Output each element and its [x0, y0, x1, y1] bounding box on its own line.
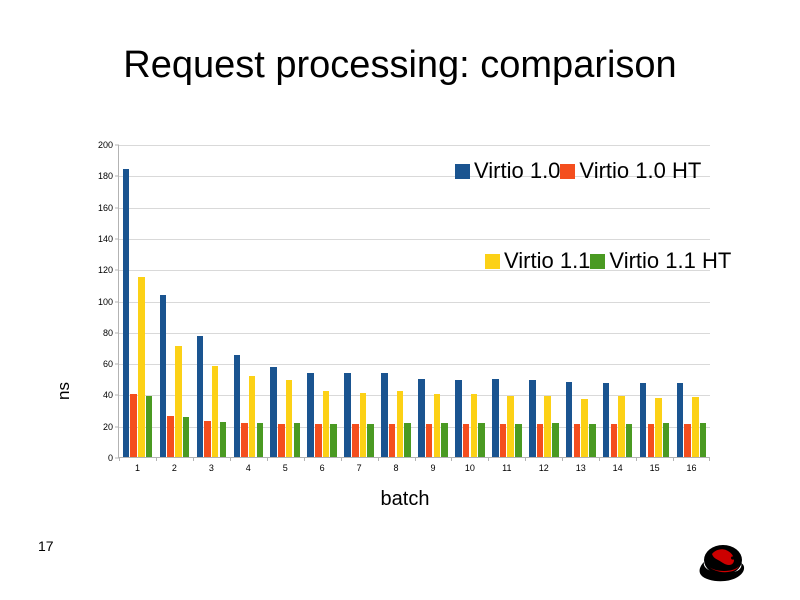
- bar-group: 11: [488, 145, 525, 457]
- slide-canvas: Request processing: comparison ns 020406…: [0, 0, 800, 600]
- legend-row-2: Virtio 1.1Virtio 1.1 HT: [485, 248, 731, 274]
- y-axis-tick-label: 120: [98, 265, 113, 275]
- bar: [257, 423, 264, 457]
- bar-group: 4: [230, 145, 267, 457]
- bar: [123, 169, 130, 457]
- bar: [581, 399, 588, 457]
- bar: [648, 424, 655, 457]
- bar: [471, 394, 478, 457]
- x-axis-tick-label: 4: [246, 463, 251, 473]
- bar-group: 8: [378, 145, 415, 457]
- bar: [241, 423, 248, 457]
- bar: [618, 396, 625, 457]
- x-axis-tick-label: 5: [283, 463, 288, 473]
- bar: [367, 424, 374, 457]
- bar-group: 9: [415, 145, 452, 457]
- y-axis-tick-label: 180: [98, 171, 113, 181]
- x-axis-tick-mark: [488, 457, 489, 461]
- bar: [692, 397, 699, 457]
- legend-item: Virtio 1.1 HT: [590, 248, 731, 274]
- bar: [278, 424, 285, 457]
- bar-group: 13: [562, 145, 599, 457]
- bar: [507, 396, 514, 457]
- bar: [478, 423, 485, 457]
- bar: [330, 424, 337, 457]
- y-axis-tick-label: 60: [103, 359, 113, 369]
- bar-group: 5: [267, 145, 304, 457]
- bar: [626, 424, 633, 457]
- bar: [515, 424, 522, 457]
- bar: [544, 396, 551, 457]
- legend-item: Virtio 1.1: [485, 248, 590, 274]
- x-axis-tick-label: 14: [613, 463, 623, 473]
- y-axis-tick-label: 80: [103, 328, 113, 338]
- x-axis-tick-mark: [156, 457, 157, 461]
- bar: [234, 355, 241, 457]
- bar-group: 1: [119, 145, 156, 457]
- x-axis-tick-mark: [193, 457, 194, 461]
- bar: [323, 391, 330, 458]
- bar-chart: ns 020406080100120140160180200 123456789…: [60, 130, 750, 520]
- bar-group: 15: [636, 145, 673, 457]
- bar: [426, 424, 433, 457]
- bar-group: 12: [525, 145, 562, 457]
- legend-color-swatch: [455, 164, 470, 179]
- y-axis-tick-label: 160: [98, 203, 113, 213]
- bar: [294, 423, 301, 457]
- bar: [307, 373, 314, 458]
- x-axis-tick-mark: [673, 457, 674, 461]
- bar: [529, 380, 536, 457]
- bar: [552, 423, 559, 457]
- bar: [389, 424, 396, 457]
- bar: [360, 393, 367, 457]
- legend-color-swatch: [560, 164, 575, 179]
- bar: [684, 424, 691, 457]
- bar: [404, 423, 411, 457]
- y-axis-tick-label: 0: [108, 453, 113, 463]
- y-axis-tick-label: 20: [103, 422, 113, 432]
- y-axis-tick-label: 100: [98, 297, 113, 307]
- bar: [352, 424, 359, 457]
- x-axis-tick-label: 15: [650, 463, 660, 473]
- x-axis-tick-mark: [230, 457, 231, 461]
- bar: [537, 424, 544, 457]
- y-axis-tick-label: 40: [103, 390, 113, 400]
- legend-item: Virtio 1.0: [455, 158, 560, 184]
- x-axis-tick-label: 3: [209, 463, 214, 473]
- plot-area: 020406080100120140160180200 123456789101…: [118, 145, 710, 458]
- bar: [574, 424, 581, 457]
- bar: [286, 380, 293, 457]
- x-axis-tick-mark: [599, 457, 600, 461]
- bar: [397, 391, 404, 457]
- bar: [611, 424, 618, 457]
- x-axis-tick-mark: [267, 457, 268, 461]
- bar: [249, 376, 256, 457]
- bar: [220, 422, 227, 457]
- red-hat-shadowman-logo: [694, 540, 748, 584]
- x-axis-label: batch: [60, 488, 750, 511]
- x-axis-tick-mark: [304, 457, 305, 461]
- bar: [130, 394, 137, 457]
- bar: [455, 380, 462, 457]
- bar: [589, 424, 596, 457]
- x-axis-tick-label: 10: [465, 463, 475, 473]
- bar-group: 10: [451, 145, 488, 457]
- bar-group: 3: [193, 145, 230, 457]
- bar-group: 7: [341, 145, 378, 457]
- bar-groups: 12345678910111213141516: [119, 145, 710, 457]
- x-axis-tick-mark: [341, 457, 342, 461]
- bar: [167, 416, 174, 457]
- legend-label: Virtio 1.0 HT: [579, 158, 701, 184]
- legend-row-1: Virtio 1.0Virtio 1.0 HT: [455, 158, 701, 184]
- x-axis-tick-label: 8: [394, 463, 399, 473]
- bar: [603, 383, 610, 457]
- x-axis-tick-label: 6: [320, 463, 325, 473]
- legend-color-swatch: [485, 254, 500, 269]
- legend-label: Virtio 1.0: [474, 158, 560, 184]
- x-axis-tick-mark: [119, 457, 120, 461]
- x-axis-tick-label: 16: [687, 463, 697, 473]
- legend-item: Virtio 1.0 HT: [560, 158, 701, 184]
- bar: [655, 398, 662, 457]
- x-axis-tick-mark: [451, 457, 452, 461]
- slide-page-number: 17: [38, 538, 54, 554]
- bar: [315, 424, 322, 457]
- bar: [500, 424, 507, 457]
- bar: [663, 423, 670, 457]
- page-title: Request processing: comparison: [0, 44, 800, 87]
- bar: [700, 423, 707, 457]
- x-axis-tick-mark: [562, 457, 563, 461]
- x-axis-tick-label: 2: [172, 463, 177, 473]
- bar: [344, 373, 351, 458]
- bar-group: 14: [599, 145, 636, 457]
- bar: [566, 382, 573, 457]
- legend-color-swatch: [590, 254, 605, 269]
- y-axis-tick-label: 140: [98, 234, 113, 244]
- bar: [138, 277, 145, 457]
- x-axis-tick-mark: [378, 457, 379, 461]
- bar: [183, 417, 190, 457]
- bar: [175, 346, 182, 457]
- x-axis-tick-mark: [709, 457, 710, 461]
- bar: [640, 383, 647, 457]
- bar: [212, 366, 219, 457]
- bar: [381, 373, 388, 458]
- legend-label: Virtio 1.1 HT: [609, 248, 731, 274]
- y-axis-label: ns: [54, 382, 74, 400]
- x-axis-tick-label: 13: [576, 463, 586, 473]
- y-axis-tick-label: 200: [98, 140, 113, 150]
- bar: [270, 367, 277, 457]
- x-axis-tick-label: 12: [539, 463, 549, 473]
- x-axis-tick-mark: [636, 457, 637, 461]
- bar-group: 16: [673, 145, 710, 457]
- x-axis-tick-label: 1: [135, 463, 140, 473]
- bar-group: 2: [156, 145, 193, 457]
- legend-label: Virtio 1.1: [504, 248, 590, 274]
- bar: [677, 383, 684, 457]
- bar-group: 6: [304, 145, 341, 457]
- bar: [441, 423, 448, 457]
- x-axis-tick-mark: [525, 457, 526, 461]
- bar: [418, 379, 425, 457]
- bar: [146, 396, 153, 457]
- bar: [197, 336, 204, 457]
- x-axis-tick-mark: [415, 457, 416, 461]
- bar: [204, 421, 211, 457]
- x-axis-tick-label: 7: [357, 463, 362, 473]
- bar: [434, 394, 441, 457]
- x-axis-tick-label: 9: [430, 463, 435, 473]
- bar: [160, 295, 167, 457]
- bar: [463, 424, 470, 457]
- bar: [492, 379, 499, 457]
- x-axis-tick-label: 11: [502, 463, 511, 473]
